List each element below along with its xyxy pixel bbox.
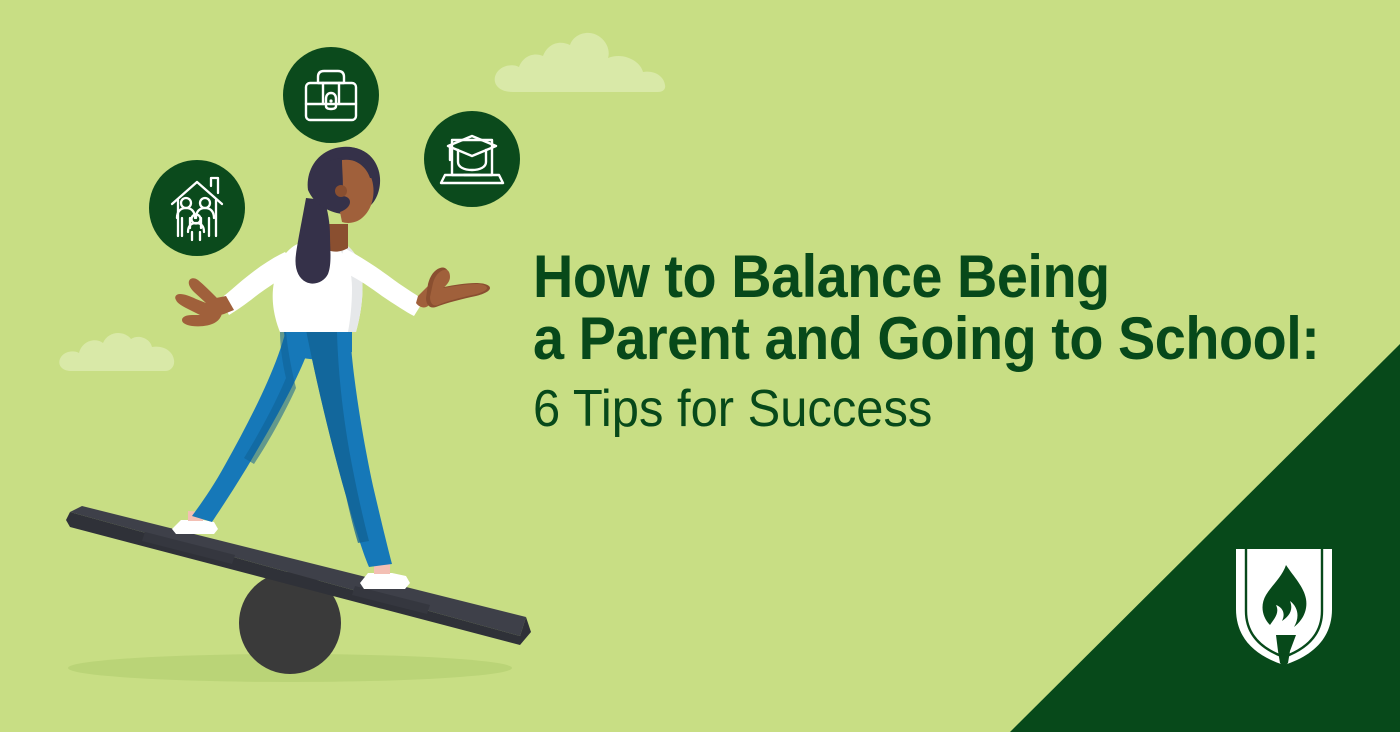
laptop-icon-circle bbox=[424, 111, 520, 207]
briefcase-icon bbox=[283, 47, 379, 143]
briefcase-icon-circle bbox=[283, 47, 379, 143]
headline-block: How to Balance Being a Parent and Going … bbox=[533, 246, 1363, 438]
rasmussen-shield-flame-logo bbox=[1232, 543, 1336, 667]
banner-graphic: How to Balance Being a Parent and Going … bbox=[0, 0, 1400, 732]
house-family-icon bbox=[149, 160, 245, 256]
briefcase-lock-dot bbox=[329, 99, 332, 102]
headline-subtitle: 6 Tips for Success bbox=[533, 380, 1313, 438]
headline-line-2: a Parent and Going to School: bbox=[533, 308, 1305, 370]
house-icon-circle bbox=[149, 160, 245, 256]
headline-line-1: How to Balance Being bbox=[533, 246, 1305, 308]
laptop-graduation-cap-icon bbox=[424, 111, 520, 207]
